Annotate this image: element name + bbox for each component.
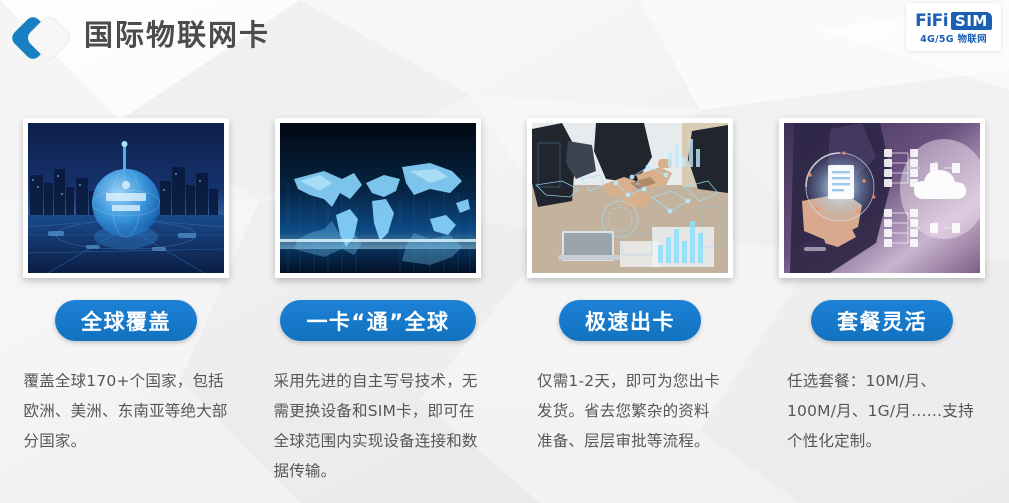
photo-frame [779,118,985,278]
photo-frame [275,118,481,278]
card-badge[interactable]: 全球覆盖 [55,300,197,341]
brand-diamond-logo-icon [12,9,74,67]
card-badge[interactable]: 一卡“通”全球 [280,300,475,341]
business-team-data-overlay-image [532,123,728,273]
feature-card: 极速出卡 仅需1-2天，即可为您出卡发货。省去您繁杂的资料准备、层层审批等流程。 [504,118,756,503]
card-badge[interactable]: 套餐灵活 [811,300,953,341]
photo-frame [527,118,733,278]
brand-badge: FiFi SIM 4G/5G 物联网 [906,3,1001,51]
page-title: 国际物联网卡 [84,16,270,54]
photo-frame [23,118,229,278]
brand-subtitle: 4G/5G 物联网 [920,33,987,46]
feature-card: 套餐灵活 任选套餐：10M/月、100M/月、1G/月……支持个性化定制。 [756,118,1008,503]
card-description: 采用先进的自主写号技术，无需更换设备和SIM卡，即可在全球范围内实现设备连接和数… [274,366,483,486]
card-badge[interactable]: 极速出卡 [559,300,701,341]
brand-name-row: FiFi SIM [915,10,992,31]
feature-card: 全球覆盖 覆盖全球170+个国家，包括欧洲、美洲、东南亚等绝大部分国家。 [0,118,252,503]
card-description: 仅需1-2天，即可为您出卡发货。省去您繁杂的资料准备、层层审批等流程。 [537,366,723,456]
card-description: 任选套餐：10M/月、100M/月、1G/月……支持个性化定制。 [787,366,977,456]
feature-cards-row: 全球覆盖 覆盖全球170+个国家，包括欧洲、美洲、东南亚等绝大部分国家。 [0,118,1009,503]
feature-card: 一卡“通”全球 采用先进的自主写号技术，无需更换设备和SIM卡，即可在全球范围内… [252,118,504,503]
slide-canvas: 国际物联网卡 FiFi SIM 4G/5G 物联网 [0,0,1009,503]
city-skyline-glowing-globe-image [28,123,224,273]
brand-name-sim: SIM [951,12,992,30]
glowing-world-map-image [280,123,476,273]
hand-holding-document-cloud-image [784,123,980,273]
slide-header: 国际物联网卡 FiFi SIM 4G/5G 物联网 [0,0,1009,80]
brand-name-fifi: FiFi [915,12,948,30]
card-description: 覆盖全球170+个国家，包括欧洲、美洲、东南亚等绝大部分国家。 [24,366,229,456]
